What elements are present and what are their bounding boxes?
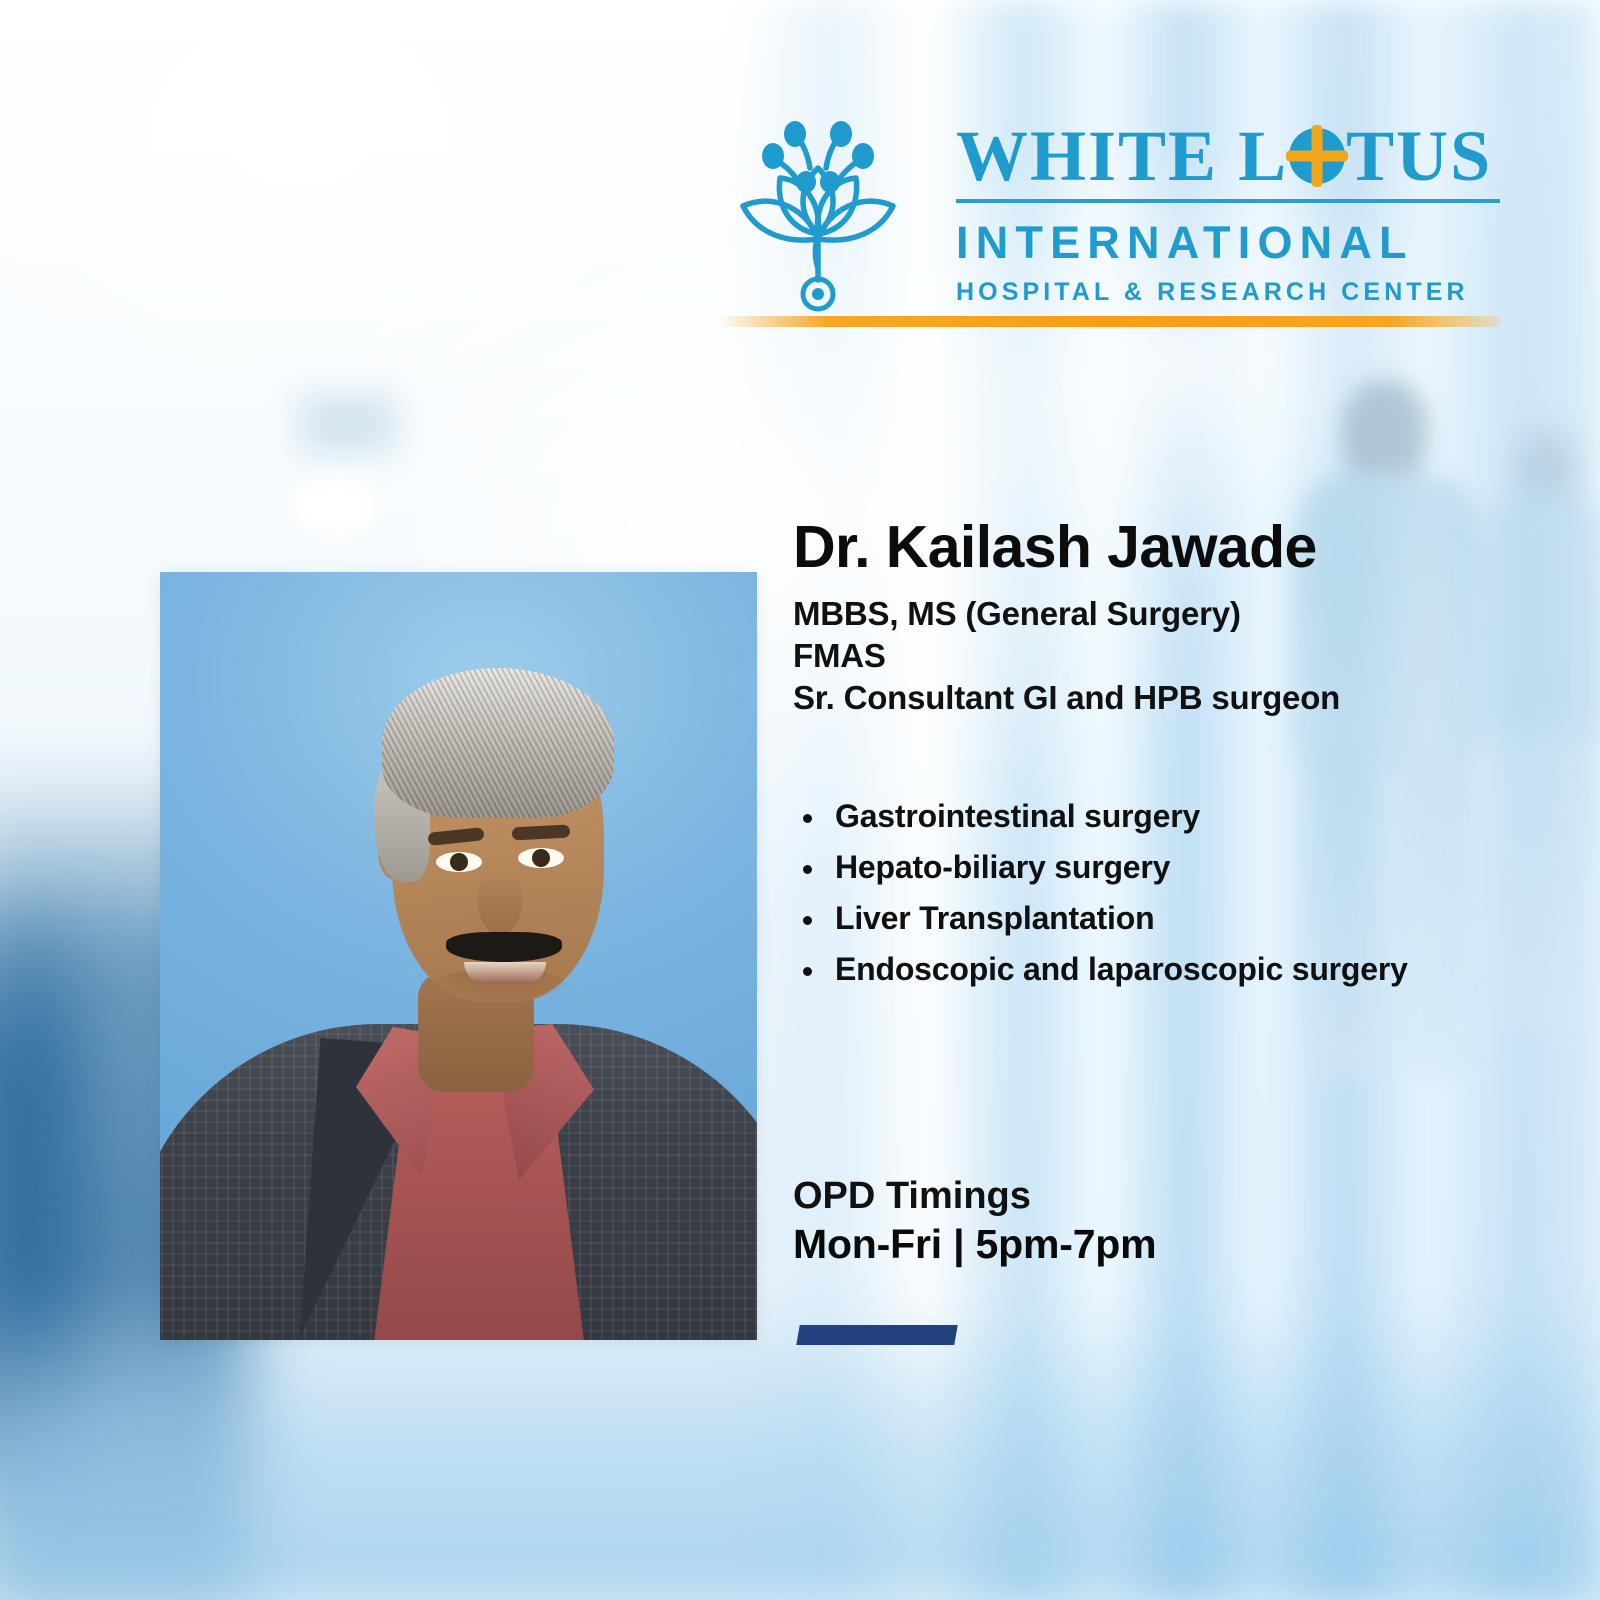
brand-logo: WHITE LTUS INTERNATIONAL HOSPITAL & RESE… <box>718 108 1500 340</box>
doctor-credential-1: MBBS, MS (General Surgery) <box>793 593 1553 635</box>
brand-tagline: HOSPITAL & RESEARCH CENTER <box>956 278 1500 307</box>
list-item: Liver Transplantation <box>793 893 1553 944</box>
doctor-credential-3: Sr. Consultant GI and HPB surgeon <box>793 677 1553 719</box>
bullet-icon <box>803 967 812 976</box>
brand-wordmark: WHITE LTUS INTERNATIONAL HOSPITAL & RESE… <box>956 120 1500 307</box>
background-ceiling-lamp-icon <box>255 45 425 107</box>
list-item: Gastrointestinal surgery <box>793 791 1553 842</box>
cross-circle-icon <box>1289 128 1345 184</box>
poster-canvas: WHITE LTUS INTERNATIONAL HOSPITAL & RESE… <box>0 0 1600 1600</box>
lotus-flower-stethoscope-icon <box>718 108 918 313</box>
specialties-list: Gastrointestinal surgery Hepato-biliary … <box>793 791 1553 995</box>
brand-name-part1: WHITE L <box>956 120 1288 192</box>
list-item: Hepato-biliary surgery <box>793 842 1553 893</box>
bullet-icon <box>803 916 812 925</box>
doctor-portrait-photo <box>160 572 757 1340</box>
list-item: Endoscopic and laparoscopic surgery <box>793 944 1553 995</box>
brand-name-part2: TUS <box>1346 120 1492 192</box>
opd-value: Mon-Fri | 5pm-7pm <box>793 1219 1553 1269</box>
specialty-label: Endoscopic and laparoscopic surgery <box>835 951 1408 987</box>
specialty-label: Gastrointestinal surgery <box>835 798 1200 834</box>
bullet-icon <box>803 865 812 874</box>
brand-subtitle: INTERNATIONAL <box>956 217 1500 269</box>
accent-bar <box>796 1325 958 1345</box>
background-light-spot <box>290 480 376 532</box>
bullet-icon <box>803 814 812 823</box>
doctor-credential-2: FMAS <box>793 635 1553 677</box>
background-wall-panel <box>300 395 396 453</box>
opd-timings-block: OPD Timings Mon-Fri | 5pm-7pm <box>793 1173 1553 1269</box>
logo-divider-rule <box>956 199 1500 203</box>
doctor-name: Dr. Kailash Jawade <box>793 516 1553 579</box>
specialty-label: Liver Transplantation <box>835 900 1154 936</box>
specialty-label: Hepato-biliary surgery <box>835 849 1170 885</box>
doctor-info-panel: Dr. Kailash Jawade MBBS, MS (General Sur… <box>793 516 1553 1345</box>
opd-label: OPD Timings <box>793 1173 1553 1219</box>
logo-orange-underline <box>718 316 1500 327</box>
brand-name-line: WHITE LTUS <box>956 120 1500 192</box>
